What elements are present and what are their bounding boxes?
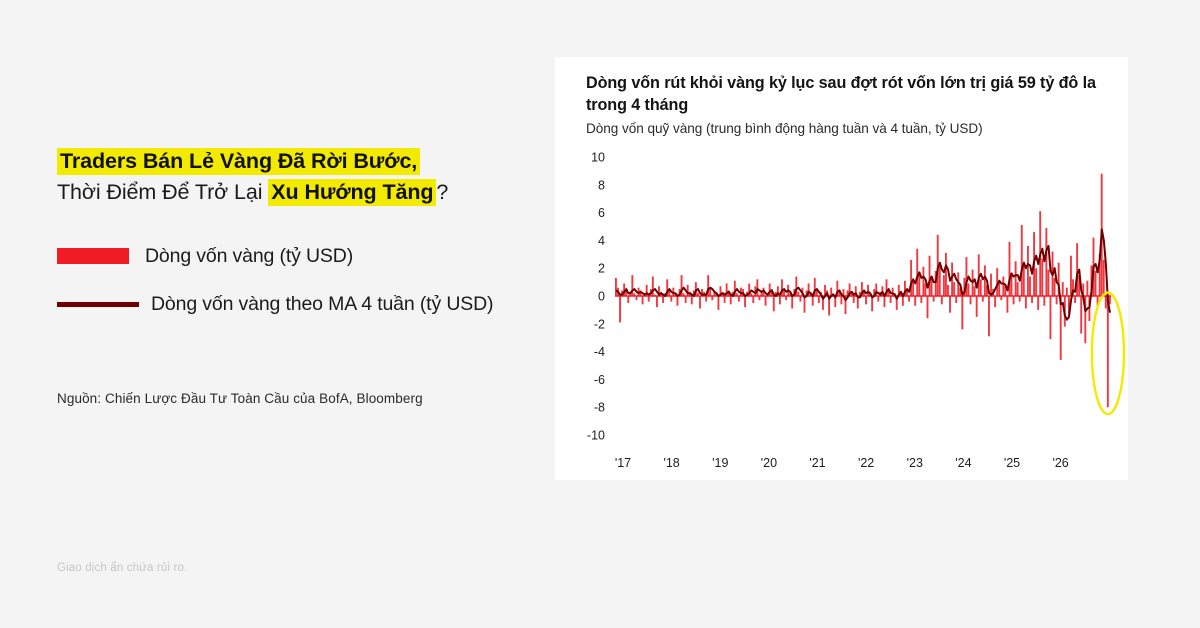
chart-card: Dòng vốn rút khỏi vàng kỷ lục sau đợt ró… [555, 57, 1128, 480]
x-tick-label: '18 [663, 456, 679, 470]
chart-legend: Dòng vốn vàng (tỷ USD) Dòng vốn vàng the… [57, 238, 493, 322]
headline-line-2: Thời Điểm Để Trở Lại Xu Hướng Tăng? [57, 179, 527, 207]
headline-line-2-prefix: Thời Điểm Để Trở Lại [57, 180, 268, 204]
screenshot-root: Traders Bán Lẻ Vàng Đã Rời Bước, Thời Đi… [0, 0, 1200, 628]
legend-swatch-line-icon [57, 302, 139, 307]
x-tick-label: '21 [809, 456, 825, 470]
x-tick-label: '26 [1052, 456, 1068, 470]
y-tick-label: 0 [598, 290, 605, 304]
headline-block: Traders Bán Lẻ Vàng Đã Rời Bước, Thời Đi… [57, 148, 527, 207]
x-tick-label: '19 [712, 456, 728, 470]
y-tick-label: -2 [594, 317, 605, 331]
chart-svg: 1086420-2-4-6-8-10'17'18'19'20'21'22'23'… [555, 143, 1128, 473]
x-tick-label: '20 [761, 456, 777, 470]
risk-disclaimer: Giao dịch ẩn chứa rủi ro. [57, 562, 187, 574]
y-tick-label: 4 [598, 234, 605, 248]
legend-label-gold-flows: Dòng vốn vàng (tỷ USD) [145, 245, 353, 268]
chart-subtitle: Dòng vốn quỹ vàng (trung bình động hàng … [586, 121, 1106, 136]
x-tick-label: '17 [615, 456, 631, 470]
legend-swatch-bar-icon [57, 248, 129, 264]
y-tick-label: 2 [598, 262, 605, 276]
chart-plot-area: 1086420-2-4-6-8-10'17'18'19'20'21'22'23'… [555, 143, 1128, 473]
y-tick-label: -8 [594, 401, 605, 415]
x-tick-label: '25 [1004, 456, 1020, 470]
x-tick-label: '23 [907, 456, 923, 470]
legend-item-gold-flows: Dòng vốn vàng (tỷ USD) [57, 238, 493, 274]
y-tick-label: 6 [598, 206, 605, 220]
legend-label-gold-flows-ma4: Dòng vốn vàng theo MA 4 tuần (tỷ USD) [151, 293, 493, 316]
headline-line-1: Traders Bán Lẻ Vàng Đã Rời Bước, [57, 148, 527, 176]
x-tick-label: '24 [955, 456, 971, 470]
x-tick-label: '22 [858, 456, 874, 470]
headline-line-1-text: Traders Bán Lẻ Vàng Đã Rời Bước, [57, 148, 420, 175]
y-tick-label: -6 [594, 373, 605, 387]
legend-item-gold-flows-ma4: Dòng vốn vàng theo MA 4 tuần (tỷ USD) [57, 286, 493, 322]
y-tick-label: -4 [594, 345, 605, 359]
source-note: Nguồn: Chiến Lược Đầu Tư Toàn Cầu của Bo… [57, 391, 423, 406]
y-tick-label: 8 [598, 178, 605, 192]
headline-line-2-highlight: Xu Hướng Tăng [268, 179, 436, 206]
y-tick-label: -10 [587, 429, 605, 443]
left-info-panel: Traders Bán Lẻ Vàng Đã Rời Bước, Thời Đi… [0, 0, 555, 628]
y-tick-label: 10 [591, 151, 605, 165]
headline-line-2-suffix: ? [436, 180, 448, 204]
chart-title: Dòng vốn rút khỏi vàng kỷ lục sau đợt ró… [586, 72, 1096, 117]
